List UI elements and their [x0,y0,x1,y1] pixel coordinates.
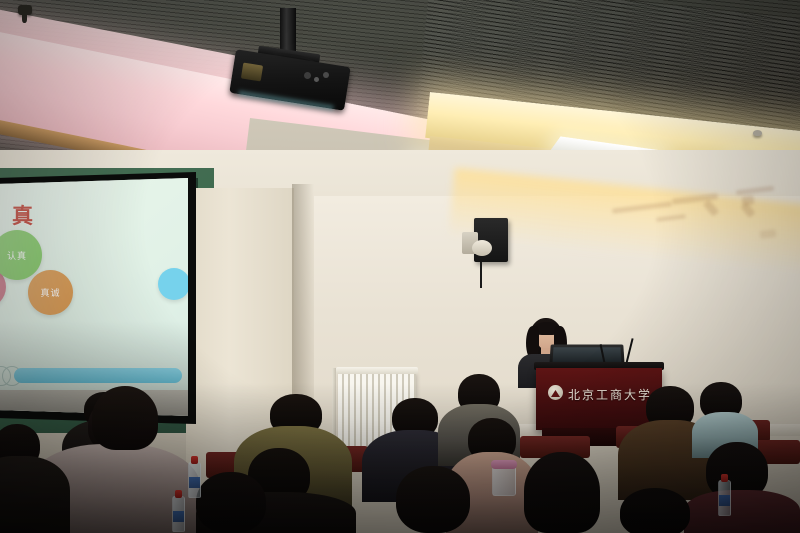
smoke-detector-icon [753,130,762,136]
slide-light-sheen [0,178,188,416]
water-bottle [188,462,201,498]
audience-head [92,386,158,450]
wall-speaker [474,218,508,262]
university-emblem-icon [548,385,563,400]
projection-screen: 真 认真 真诚 [0,178,188,416]
lecture-hall-photo: 真 认真 真诚 [0,0,800,533]
projector-mount-pole [280,8,296,52]
audience-head [620,488,690,533]
projector-knob [304,72,311,79]
speaker-cone-icon [472,240,492,256]
drinking-cup [492,466,516,496]
audience-head [196,472,266,533]
audience-head [524,452,600,533]
audience-shoulders [0,456,70,533]
podium-front-panel: 北京工商大学 [536,368,662,430]
ceiling-sprinkler-icon [18,5,32,15]
projector-knob [314,77,319,82]
podium-institution-name: 北京工商大学 [568,386,652,403]
audience-shoulders [684,490,800,533]
water-bottle [172,496,185,532]
projector-lens [241,63,263,82]
radiator-pipe [332,368,336,442]
ceiling-projector [228,20,350,102]
projector-knob [323,72,329,78]
speaker-wire [480,262,482,288]
laptop-screen [553,347,622,362]
audience-head [396,466,470,533]
water-bottle [718,480,731,516]
